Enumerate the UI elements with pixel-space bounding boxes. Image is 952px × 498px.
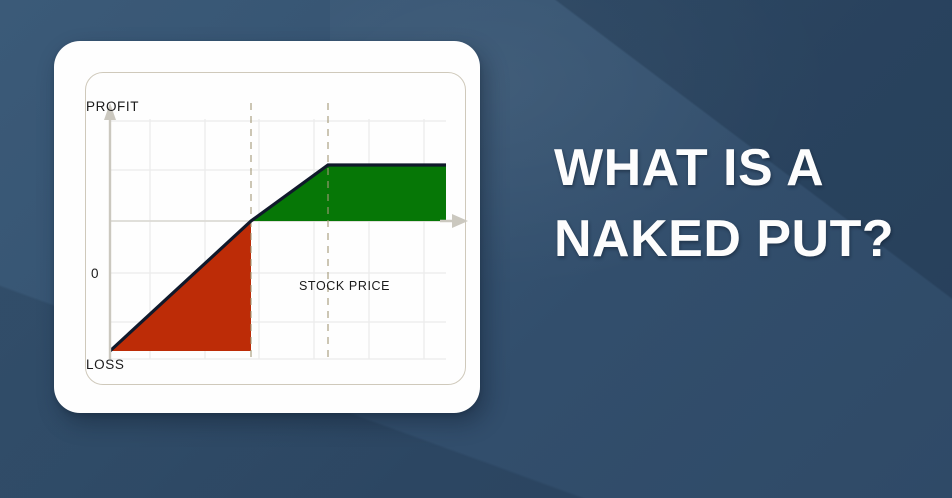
x-axis-label: STOCK PRICE (299, 279, 390, 293)
zero-tick-label: 0 (91, 266, 99, 281)
y-axis-label: PROFIT (86, 99, 139, 114)
page-title-line-1: WHAT IS A (554, 133, 924, 204)
page-title-line-2: NAKED PUT? (554, 204, 924, 275)
x-axis-arrow-icon (452, 214, 468, 228)
loss-label: LOSS (86, 357, 124, 372)
chart-card: PROFIT 0 LOSS STOCK PRICE (54, 41, 480, 413)
page-title: WHAT IS A NAKED PUT? (554, 133, 924, 275)
profit-region-fill (251, 165, 446, 221)
